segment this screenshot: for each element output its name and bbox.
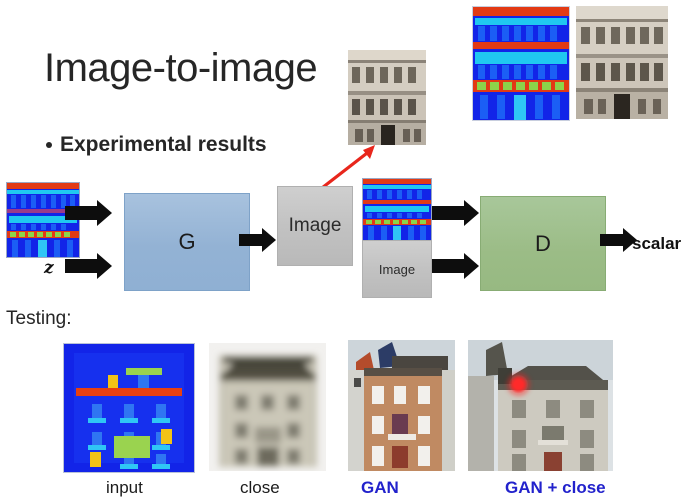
- facade-label-map-topright: [472, 6, 570, 121]
- arrow-labelmap-to-generator-icon: [65, 200, 113, 226]
- bullet-label: Experimental results: [60, 133, 267, 157]
- bullet-dot-icon: [46, 142, 52, 148]
- image-output-box: Image: [277, 186, 353, 266]
- caption-gan-close: GAN + close: [505, 478, 606, 498]
- caption-input: input: [106, 478, 143, 498]
- arrow-labelmap-to-discriminator-icon: [432, 200, 480, 226]
- generator-block: G: [124, 193, 250, 291]
- caption-close: close: [240, 478, 280, 498]
- facade-photo-topright: [576, 6, 668, 119]
- image-input-box-discriminator: Image: [362, 240, 432, 298]
- facade-label-map-discriminator: [362, 178, 432, 242]
- arrow-generator-to-image-icon: [239, 228, 277, 252]
- slide-canvas: Image-to-image Experimental results Test…: [0, 0, 700, 503]
- result-image-close: [209, 343, 326, 471]
- noise-input-label: z: [44, 258, 54, 278]
- testing-section-label: Testing:: [6, 308, 71, 330]
- scalar-output-label: scalar: [632, 234, 681, 254]
- arrow-image-to-discriminator-icon: [432, 253, 480, 279]
- result-image-gan-close: [468, 340, 613, 471]
- generated-facade-photo: [348, 50, 426, 145]
- result-image-input: [63, 343, 195, 473]
- discriminator-block: D: [480, 196, 606, 291]
- arrow-noise-to-generator-icon: [65, 253, 113, 279]
- result-image-gan: [348, 340, 455, 471]
- red-cursor-marker-icon: [509, 375, 528, 394]
- page-title: Image-to-image: [44, 46, 317, 91]
- bullet-item: Experimental results: [46, 133, 267, 157]
- caption-gan: GAN: [361, 478, 399, 498]
- arrow-discriminator-to-scalar-icon: [600, 228, 638, 252]
